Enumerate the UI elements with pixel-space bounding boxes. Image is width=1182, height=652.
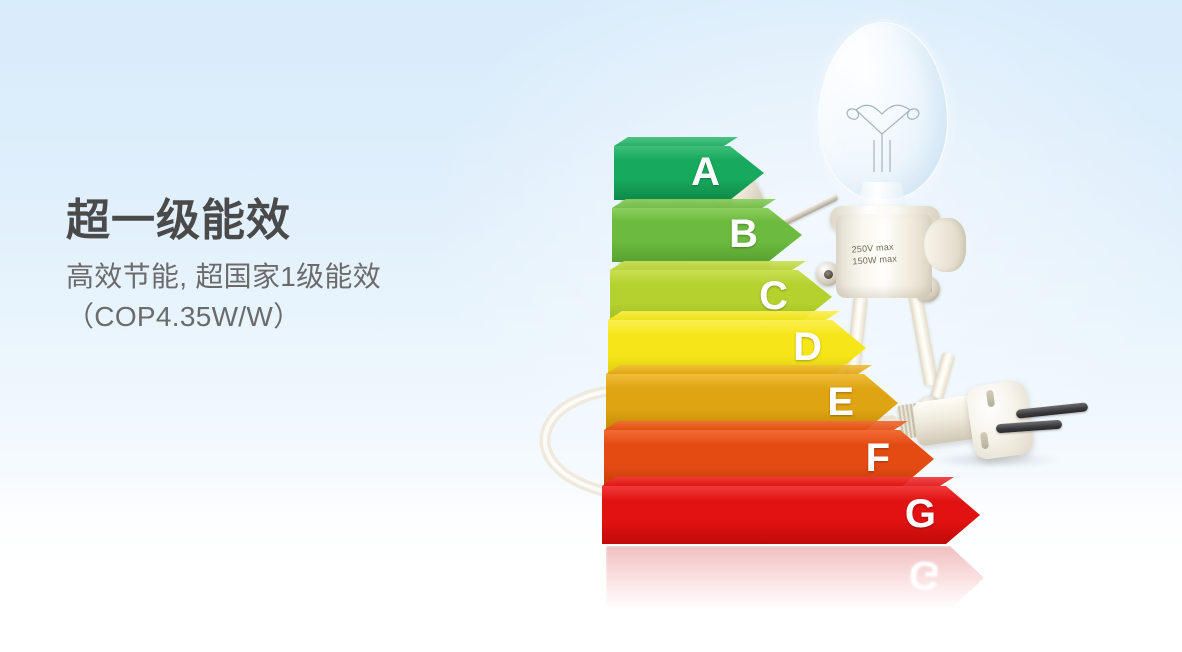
- energy-bar-a: A: [614, 146, 764, 200]
- energy-bar-letter-d: D: [793, 327, 822, 367]
- page-subtitle: 高效节能, 超国家1级能效 （COP4.35W/W）: [66, 257, 496, 338]
- energy-bar-top-face: [614, 137, 738, 146]
- energy-bar-letter-c: C: [759, 276, 788, 316]
- energy-bar-g: G: [602, 486, 980, 544]
- energy-bar-body: [612, 208, 802, 262]
- energy-bar-body: [614, 146, 764, 200]
- energy-bar-letter-e: E: [827, 382, 854, 422]
- energy-bar-top-face: [612, 199, 776, 208]
- energy-bar-letter-b: B: [729, 214, 758, 254]
- energy-bar-top-face: [606, 365, 872, 374]
- bar-reflection: G: [606, 546, 984, 610]
- energy-bar-top-face: [604, 421, 908, 430]
- promo-copy-block: 超一级能效 高效节能, 超国家1级能效 （COP4.35W/W）: [66, 196, 496, 337]
- energy-bar-reflection-letter: G: [909, 555, 940, 595]
- subtitle-line-1: 高效节能, 超国家1级能效: [66, 261, 381, 292]
- energy-bar-letter-a: A: [691, 152, 720, 192]
- page-title: 超一级能效: [66, 196, 496, 247]
- energy-bar-letter-f: F: [866, 438, 890, 478]
- energy-bar-top-face: [602, 477, 954, 486]
- energy-bar-top-face: [610, 261, 806, 270]
- energy-bar-b: B: [612, 208, 802, 262]
- energy-bar-top-face: [608, 311, 840, 320]
- promo-banner: 超一级能效 高效节能, 超国家1级能效 （COP4.35W/W） G: [0, 0, 1182, 652]
- energy-label-illustration: G: [500, 0, 1182, 652]
- energy-bar-letter-g: G: [905, 494, 936, 534]
- subtitle-line-2: （COP4.35W/W）: [66, 297, 496, 337]
